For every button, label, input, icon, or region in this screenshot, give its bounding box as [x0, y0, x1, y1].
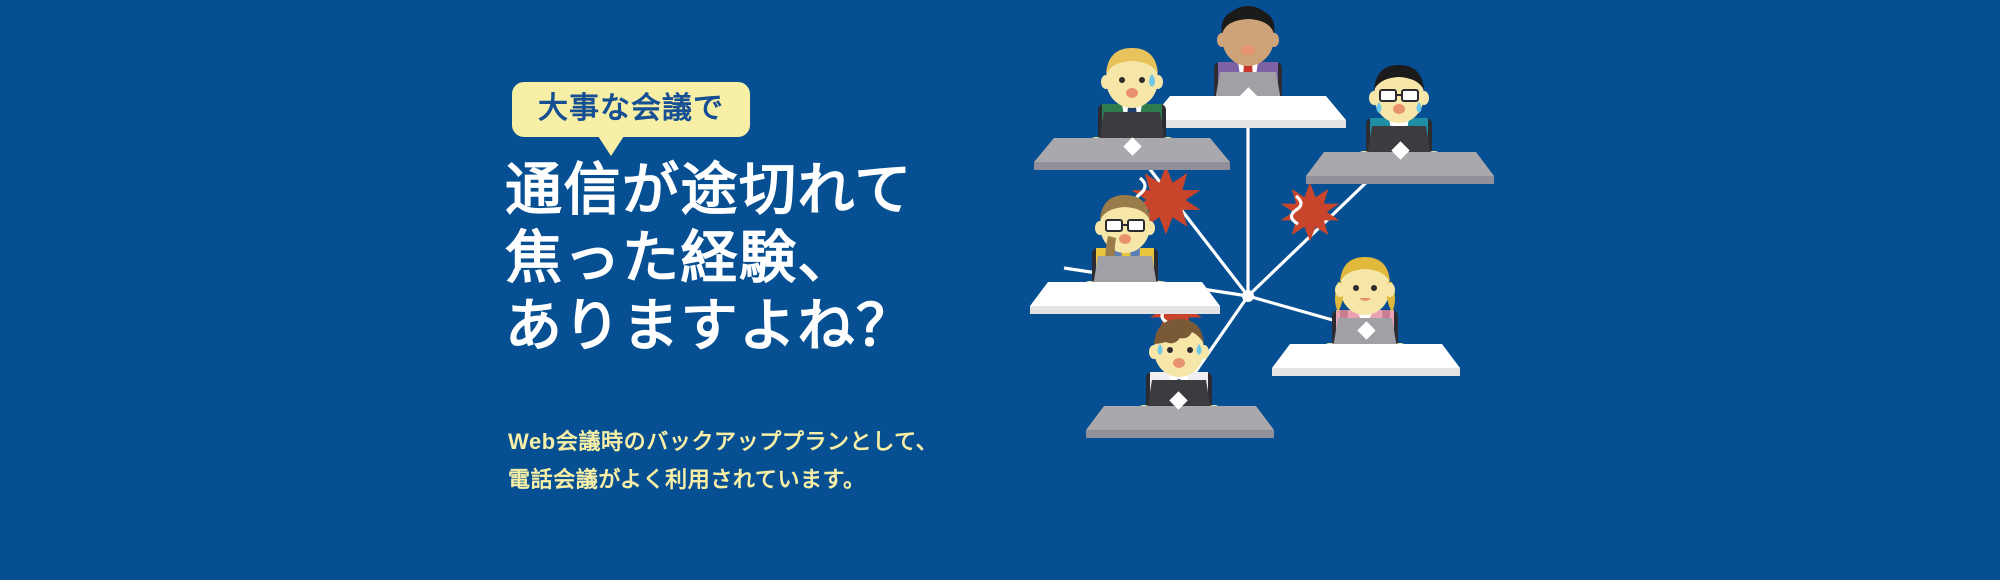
page-title: 通信が途切れて 焦った経験、 ありますよね？ — [505, 156, 915, 360]
body-line-2: 電話会議がよく利用されています。 — [508, 461, 938, 499]
hero-text-column: 大事な会議で 通信が途切れて 焦った経験、 ありますよね？ Web会議時のバック… — [505, 0, 1025, 580]
hero-banner: 大事な会議で 通信が途切れて 焦った経験、 ありますよね？ Web会議時のバック… — [0, 0, 2000, 580]
headline-line-3: ありますよね？ — [505, 292, 915, 360]
headline-line-1: 通信が途切れて — [505, 156, 915, 224]
person-bottom-left — [1086, 319, 1274, 438]
bubble-tail-icon — [598, 136, 624, 156]
person-bottom-right — [1272, 257, 1460, 376]
body-copy: Web会議時のバックアッププランとして、 電話会議がよく利用されています。 — [508, 423, 938, 499]
badge-callout: 大事な会議で — [512, 82, 750, 137]
network-illustration — [980, 0, 1620, 580]
hub-node — [1242, 290, 1254, 302]
badge-label: 大事な会議で — [538, 94, 724, 124]
body-line-1: Web会議時のバックアッププランとして、 — [508, 423, 938, 461]
disconnect-burst-upper-right — [1281, 183, 1340, 242]
badge-bubble: 大事な会議で — [512, 82, 750, 137]
headline-line-2: 焦った経験、 — [505, 224, 915, 292]
person-top-center — [1150, 6, 1346, 128]
